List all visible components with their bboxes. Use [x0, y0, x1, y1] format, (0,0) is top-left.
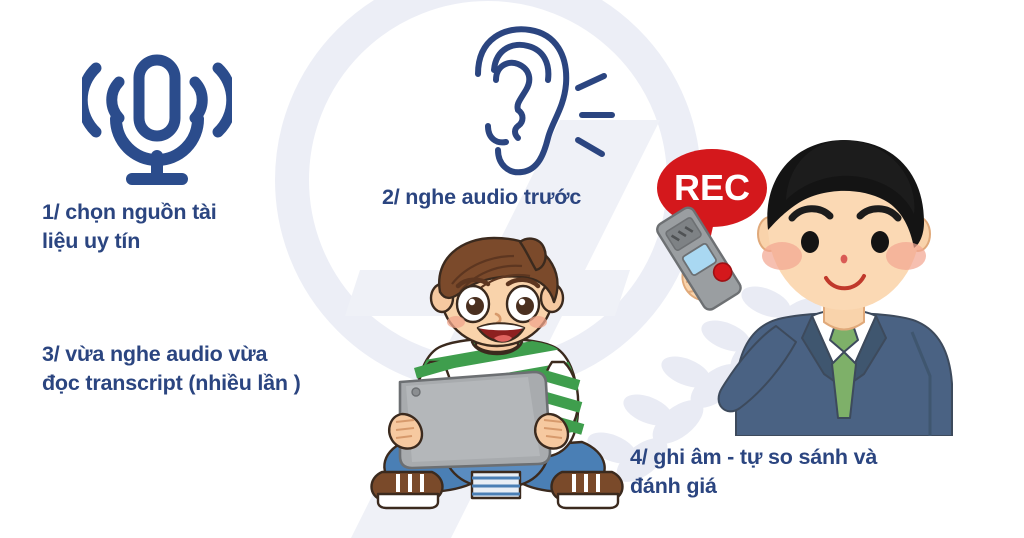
- step-2-caption: 2/ nghe audio trước: [382, 183, 581, 212]
- step-4-caption: 4/ ghi âm - tự so sánh và đánh giá: [630, 443, 877, 501]
- step-3-caption: 3/ vừa nghe audio vừa đọc transcript (nh…: [42, 340, 301, 398]
- step-1-caption: 1/ chọn nguồn tài liệu uy tín: [42, 198, 217, 256]
- rec-bubble-label: REC: [674, 167, 750, 208]
- ear-listening-icon: [452, 22, 622, 182]
- microphone-icon: [82, 42, 232, 187]
- boy-with-tablet-illustration: [368, 236, 626, 514]
- infographic-canvas: 1/ chọn nguồn tài liệu uy tín 2/ nghe au…: [0, 0, 1024, 538]
- man-with-voice-recorder-illustration: REC: [652, 126, 1000, 436]
